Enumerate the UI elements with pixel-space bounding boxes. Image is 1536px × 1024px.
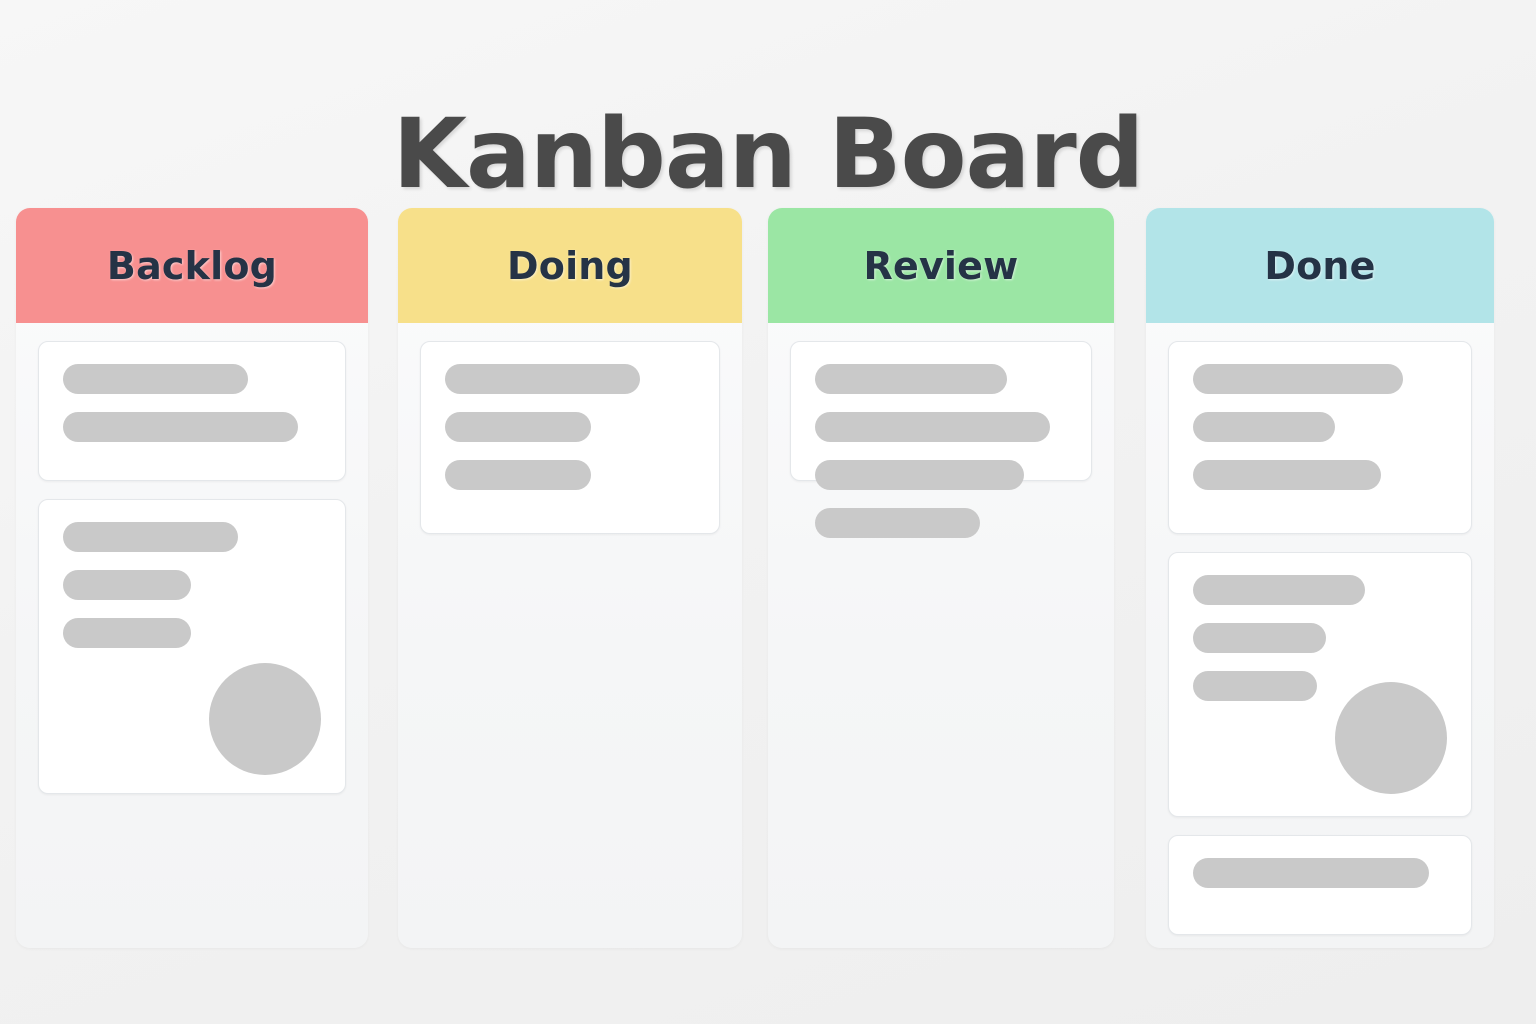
skeleton-bar — [1193, 412, 1335, 442]
column-header-review: Review — [768, 208, 1114, 323]
card[interactable] — [1168, 341, 1472, 534]
card-stack-done — [1146, 323, 1494, 953]
column-header-done: Done — [1146, 208, 1494, 323]
card[interactable] — [1168, 552, 1472, 817]
column-done[interactable]: Done — [1146, 208, 1494, 948]
card[interactable] — [1168, 835, 1472, 935]
skeleton-bar — [63, 412, 298, 442]
skeleton-bar — [815, 508, 980, 538]
skeleton-bar — [445, 460, 591, 490]
board-columns-container: Backlog Doing — [16, 208, 1520, 948]
card[interactable] — [790, 341, 1092, 481]
card-stack-doing — [398, 323, 742, 552]
skeleton-bar — [63, 618, 191, 648]
skeleton-bar — [815, 412, 1050, 442]
skeleton-bar — [815, 460, 1024, 490]
skeleton-bar — [445, 412, 591, 442]
skeleton-bar — [1193, 364, 1403, 394]
card-stack-review — [768, 323, 1114, 499]
skeleton-bar — [63, 570, 191, 600]
skeleton-bar — [1193, 460, 1381, 490]
skeleton-bar — [1193, 575, 1365, 605]
column-header-doing: Doing — [398, 208, 742, 323]
column-title-review: Review — [864, 244, 1019, 288]
skeleton-bar — [63, 364, 248, 394]
column-title-backlog: Backlog — [107, 244, 277, 288]
card[interactable] — [38, 499, 346, 794]
skeleton-bar — [1193, 671, 1317, 701]
card[interactable] — [38, 341, 346, 481]
avatar — [209, 663, 321, 775]
column-title-doing: Doing — [507, 244, 633, 288]
column-header-backlog: Backlog — [16, 208, 368, 323]
card[interactable] — [420, 341, 720, 534]
avatar — [1335, 682, 1447, 794]
skeleton-bar — [1193, 623, 1326, 653]
column-doing[interactable]: Doing — [398, 208, 742, 948]
kanban-board-page: Kanban Board Backlog — [0, 0, 1536, 1024]
skeleton-bar — [1193, 858, 1429, 888]
column-title-done: Done — [1264, 244, 1375, 288]
page-title: Kanban Board — [0, 102, 1536, 208]
card-stack-backlog — [16, 323, 368, 812]
skeleton-bar — [815, 364, 1007, 394]
skeleton-bar — [445, 364, 640, 394]
column-review[interactable]: Review — [768, 208, 1114, 948]
skeleton-bar — [63, 522, 238, 552]
column-backlog[interactable]: Backlog — [16, 208, 368, 948]
